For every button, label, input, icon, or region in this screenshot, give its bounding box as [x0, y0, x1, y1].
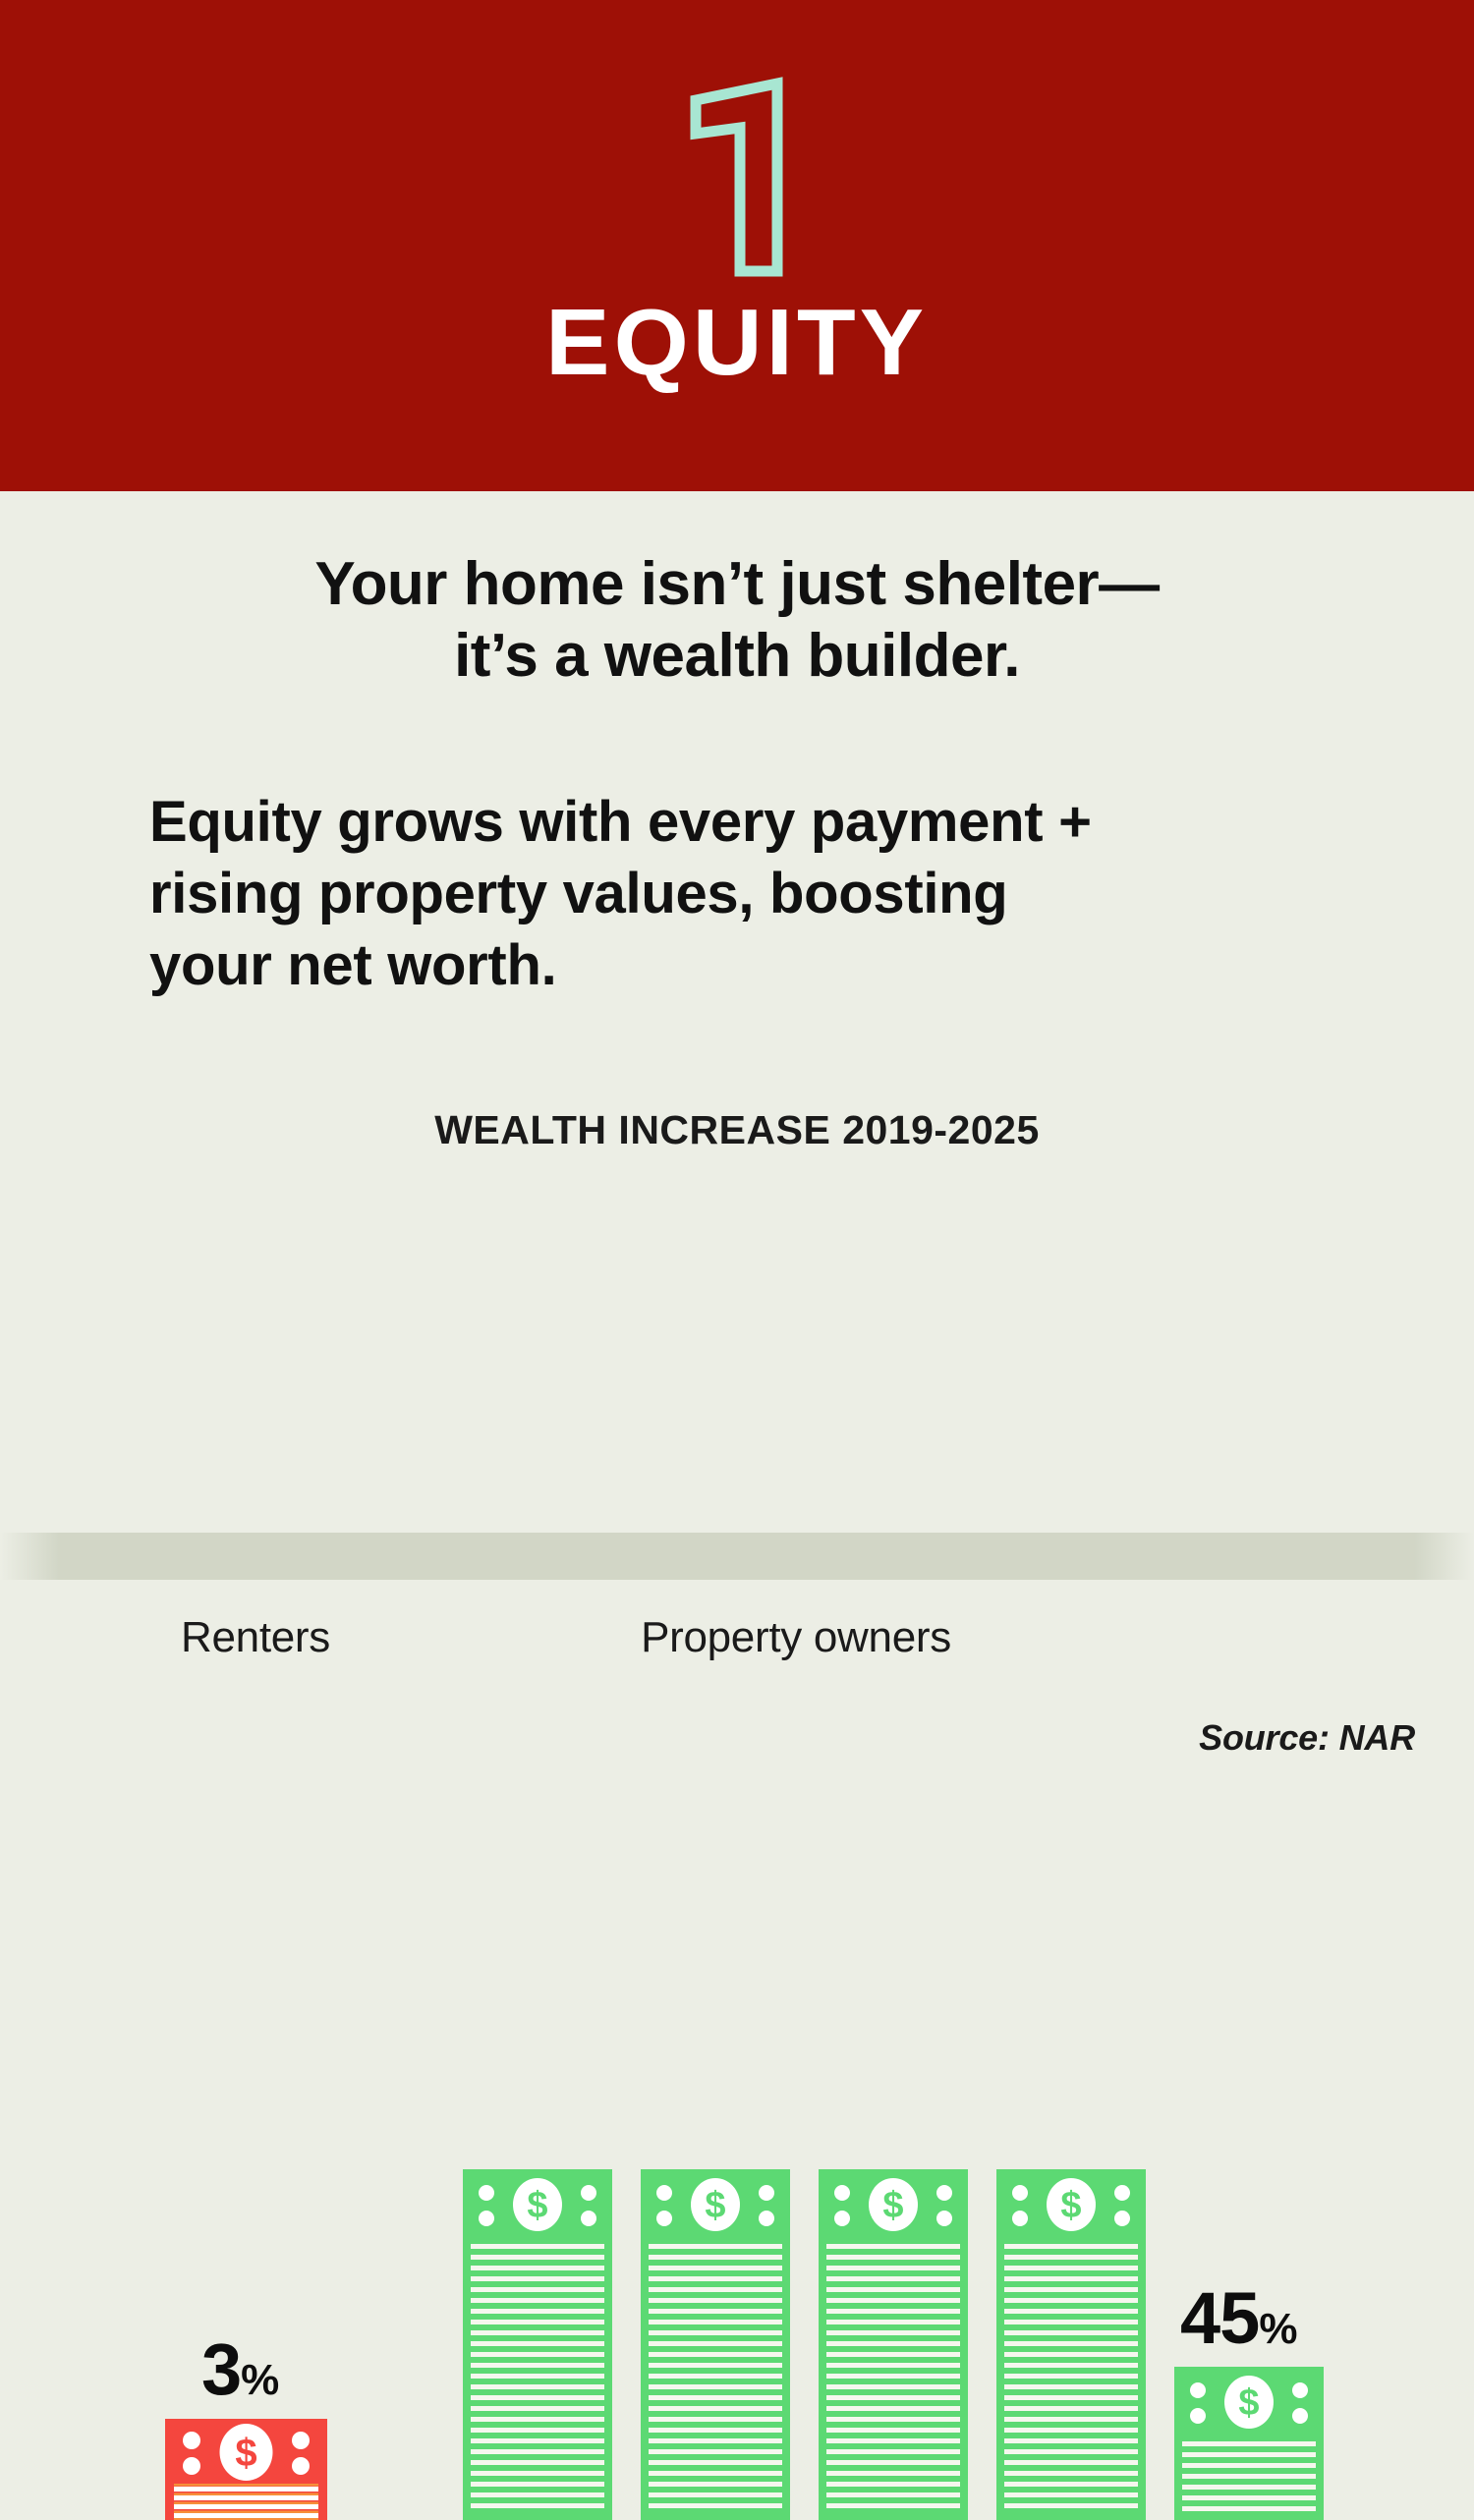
header-title: EQUITY: [545, 296, 928, 390]
value-number-renters: 3: [201, 2328, 241, 2410]
header-banner: EQUITY: [0, 0, 1474, 491]
value-percent-renters: %: [241, 2356, 279, 2404]
axis-label-owners: Property owners: [599, 1613, 992, 1662]
banknote-icon: $: [1174, 2367, 1324, 2520]
headline-line-2: it’s a wealth builder.: [0, 620, 1474, 692]
paragraph-line-3: your net worth.: [149, 929, 1397, 1001]
source-attribution: Source: NAR: [1199, 1717, 1415, 1759]
bar-owner-2: $: [641, 2169, 790, 2520]
banknote-icon: $: [996, 2169, 1146, 2520]
value-percent-owners: %: [1259, 2305, 1297, 2353]
numeral-one-icon: [675, 77, 799, 278]
svg-text:$: $: [1238, 2382, 1259, 2424]
value-label-renters: 3%: [201, 2333, 279, 2406]
value-number-owners: 45: [1180, 2277, 1259, 2359]
bar-owner-3: $: [819, 2169, 968, 2520]
axis-label-renters: Renters: [108, 1613, 403, 1662]
page-headline: Your home isn’t just shelter— it’s a wea…: [0, 548, 1474, 692]
headline-line-1: Your home isn’t just shelter—: [0, 548, 1474, 620]
bar-renters: $: [165, 2419, 327, 2520]
bar-owner-1: $: [463, 2169, 612, 2520]
svg-text:$: $: [1060, 2185, 1081, 2226]
banknote-icon: $: [641, 2169, 790, 2520]
banknote-icon: $: [819, 2169, 968, 2520]
bar-owner-5: $: [1174, 2367, 1324, 2520]
banknote-icon: $: [463, 2169, 612, 2520]
svg-text:$: $: [527, 2185, 547, 2226]
svg-text:$: $: [235, 2432, 256, 2475]
banknote-icon: $: [165, 2419, 327, 2520]
paragraph-line-2: rising property values, boosting: [149, 858, 1397, 929]
step-numeral: [675, 77, 799, 278]
bar-chart: 3% $: [0, 1159, 1474, 1582]
value-label-owners: 45%: [1180, 2282, 1297, 2355]
bar-owner-4: $: [996, 2169, 1146, 2520]
svg-text:$: $: [705, 2185, 725, 2226]
body-paragraph: Equity grows with every payment + rising…: [149, 786, 1397, 1001]
paragraph-line-1: Equity grows with every payment +: [149, 786, 1397, 858]
svg-text:$: $: [882, 2185, 903, 2226]
chart-title: WEALTH INCREASE 2019-2025: [0, 1107, 1474, 1153]
